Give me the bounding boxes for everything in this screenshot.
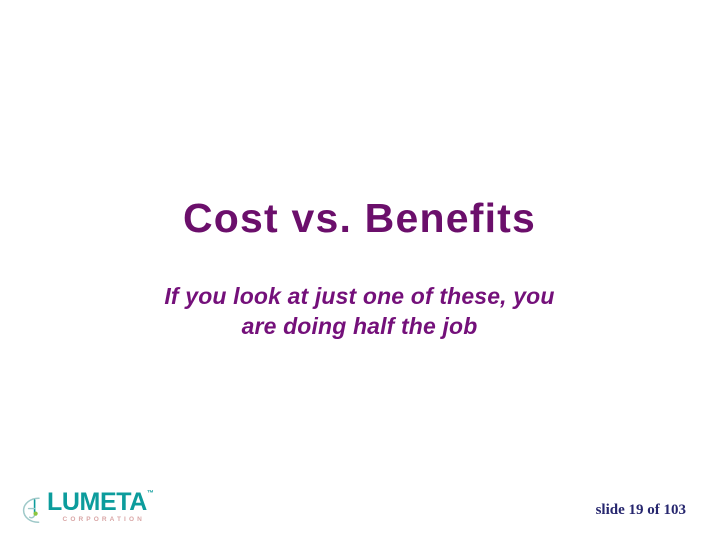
page-title: Cost vs. Benefits [0, 196, 719, 242]
lumeta-arc-mark-icon [20, 495, 46, 525]
lumeta-logo: LUMETA ™ CORPORATION [20, 491, 147, 525]
title-block: Cost vs. Benefits [0, 196, 719, 242]
trademark-symbol: ™ [147, 490, 154, 497]
subtitle-line-2: are doing half the job [0, 311, 719, 341]
presentation-slide: Cost vs. Benefits If you look at just on… [0, 0, 719, 539]
slide-counter: slide 19 of 103 [596, 502, 686, 519]
subtitle-block: If you look at just one of these, you ar… [0, 281, 719, 342]
subtitle-line-1: If you look at just one of these, you [0, 281, 719, 311]
lumeta-wordmark-group: LUMETA ™ CORPORATION [47, 490, 147, 526]
lumeta-wordmark: LUMETA [47, 490, 147, 515]
slide-footer: LUMETA ™ CORPORATION slide 19 of 103 [0, 469, 719, 539]
slide-subtitle: If you look at just one of these, you ar… [0, 281, 719, 342]
lumeta-tagline: CORPORATION [47, 517, 147, 524]
